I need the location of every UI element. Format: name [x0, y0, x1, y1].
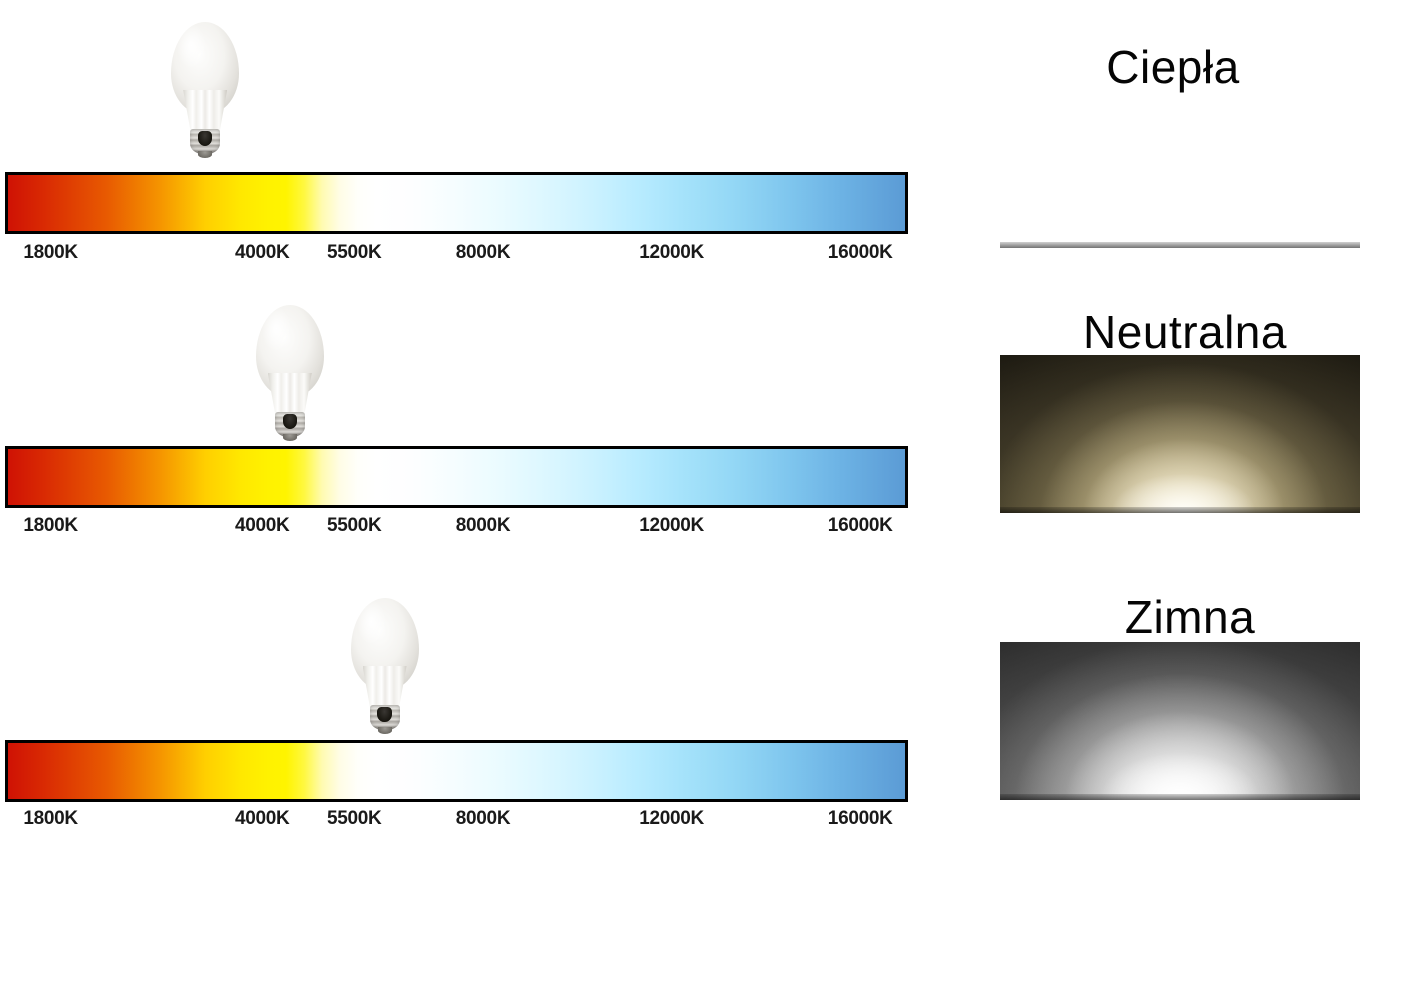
kelvin-tick-label: 12000K	[639, 515, 704, 537]
kelvin-tick-label: 16000K	[828, 808, 893, 830]
kelvin-tick-label-group: 1800K4000K5500K8000K12000K16000K	[0, 515, 920, 541]
kelvin-tick-label: 12000K	[639, 242, 704, 264]
kelvin-tick-label: 8000K	[456, 242, 511, 264]
kelvin-tick-label: 4000K	[235, 515, 290, 537]
photo-floor-shadow	[1000, 507, 1360, 513]
kelvin-tick-label: 4000K	[235, 808, 290, 830]
kelvin-tick-label-group: 1800K4000K5500K8000K12000K16000K	[0, 242, 920, 268]
kelvin-gradient-bar	[5, 446, 908, 508]
light-bulb-icon	[254, 305, 326, 440]
bulb-contact-tip	[283, 434, 297, 441]
panel-heading-neutral: Neutralna	[1083, 305, 1287, 359]
panel-heading-warm: Ciepła	[1106, 40, 1239, 94]
light-sample-photo-cold	[1000, 642, 1360, 800]
kelvin-tick-label: 5500K	[327, 515, 382, 537]
kelvin-tick-label: 8000K	[456, 808, 511, 830]
photo-floor-shadow	[1000, 794, 1360, 800]
kelvin-tick-label: 12000K	[639, 808, 704, 830]
kelvin-gradient-bar	[5, 172, 908, 234]
light-sample-photo-neutral	[1000, 355, 1360, 513]
bulb-contact-tip	[378, 727, 392, 734]
bulb-contact-tip	[198, 151, 212, 158]
kelvin-tick-label: 1800K	[23, 242, 78, 264]
kelvin-tick-label: 16000K	[828, 242, 893, 264]
light-sample-photo-warm	[1000, 90, 1360, 248]
light-bulb-icon	[169, 22, 241, 157]
kelvin-tick-label: 8000K	[456, 515, 511, 537]
bulb-neck	[268, 373, 312, 417]
kelvin-tick-label: 1800K	[23, 515, 78, 537]
kelvin-tick-label-group: 1800K4000K5500K8000K12000K16000K	[0, 808, 920, 834]
bulb-neck	[363, 666, 407, 710]
kelvin-tick-label: 5500K	[327, 242, 382, 264]
light-bulb-icon	[349, 598, 421, 733]
photo-floor-shadow	[1000, 242, 1360, 248]
kelvin-tick-label: 16000K	[828, 515, 893, 537]
panel-heading-cold: Zimna	[1125, 590, 1255, 644]
kelvin-tick-label: 1800K	[23, 808, 78, 830]
kelvin-tick-label: 5500K	[327, 808, 382, 830]
bulb-neck	[183, 90, 227, 134]
kelvin-gradient-bar	[5, 740, 908, 802]
kelvin-tick-label: 4000K	[235, 242, 290, 264]
